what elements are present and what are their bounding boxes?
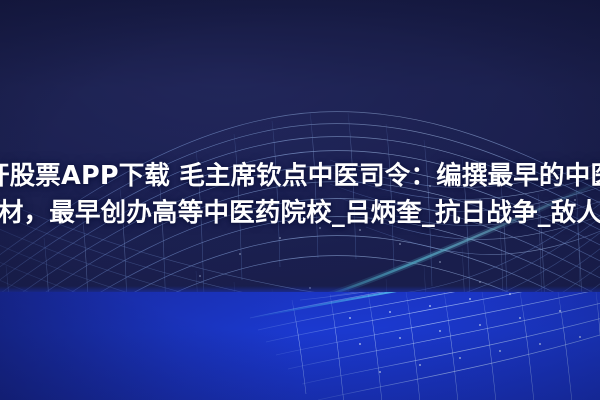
banner-headline: 杠杆股票APP下载 毛主席钦点中医司令：编撰最早的中医教材，最早创办高等中医药院…: [0, 158, 600, 232]
headline-container: 杠杆股票APP下载 毛主席钦点中医司令：编撰最早的中医教材，最早创办高等中医药院…: [0, 158, 600, 232]
banner-image: 杠杆股票APP下载 毛主席钦点中医司令：编撰最早的中医教材，最早创办高等中医药院…: [0, 0, 600, 400]
